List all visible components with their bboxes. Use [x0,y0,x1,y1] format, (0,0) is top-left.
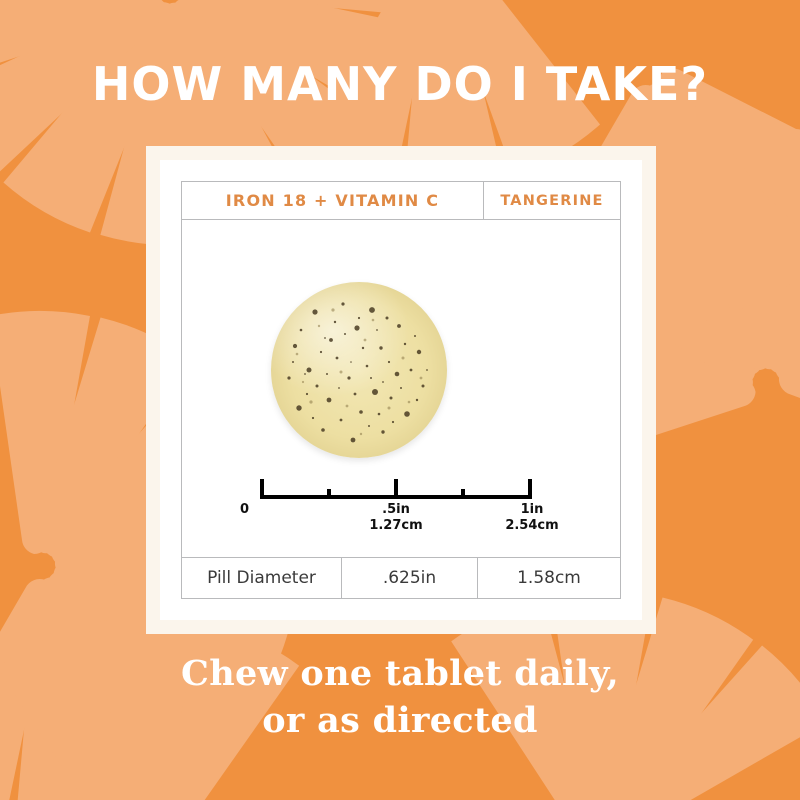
ruler-label-half-cm: 1.27cm [332,518,460,534]
ruler-tick-025 [327,489,331,499]
ruler-label-one: 1in 2.54cm [468,502,596,534]
product-name-cell: IRON 18 + VITAMIN C [182,182,484,219]
ruler-label-half: .5in 1.27cm [332,502,460,534]
ruler-tick-05 [394,479,398,499]
dosage-caption-line1: Chew one tablet daily, [0,650,800,697]
dosage-caption-line2: or as directed [0,697,800,744]
chewable-tablet-disc [271,282,447,458]
ruler-label-half-in: .5in [332,502,460,518]
flavor-cell: TANGERINE [484,182,620,219]
product-spec-card: IRON 18 + VITAMIN C TANGERINE [146,146,656,634]
ruler-label-one-cm: 2.54cm [468,518,596,534]
scale-ruler [260,473,532,499]
pill-diameter-label: Pill Diameter [182,558,342,598]
ruler-tick-0 [260,479,264,499]
spec-header-row: IRON 18 + VITAMIN C TANGERINE [181,181,621,219]
ruler-label-one-in: 1in [468,502,596,518]
pill-diameter-row: Pill Diameter .625in 1.58cm [181,557,621,599]
tablet-image [271,282,447,458]
spec-visual-area: 0 .5in 1.27cm 1in 2.54cm [181,219,621,557]
ruler-tick-075 [461,489,465,499]
dosage-caption: Chew one tablet daily, or as directed [0,650,800,744]
page-title: HOW MANY DO I TAKE? [0,57,800,111]
product-info-graphic: HOW MANY DO I TAKE? IRON 18 + VITAMIN C … [0,0,800,800]
tablet-speckle-texture [271,282,447,458]
pill-diameter-inches: .625in [342,558,478,598]
card-inner-surface: IRON 18 + VITAMIN C TANGERINE [160,160,642,620]
ruler-tick-1 [528,479,532,499]
pill-diameter-cm: 1.58cm [478,558,620,598]
ruler-label-zero: 0 [240,502,280,518]
